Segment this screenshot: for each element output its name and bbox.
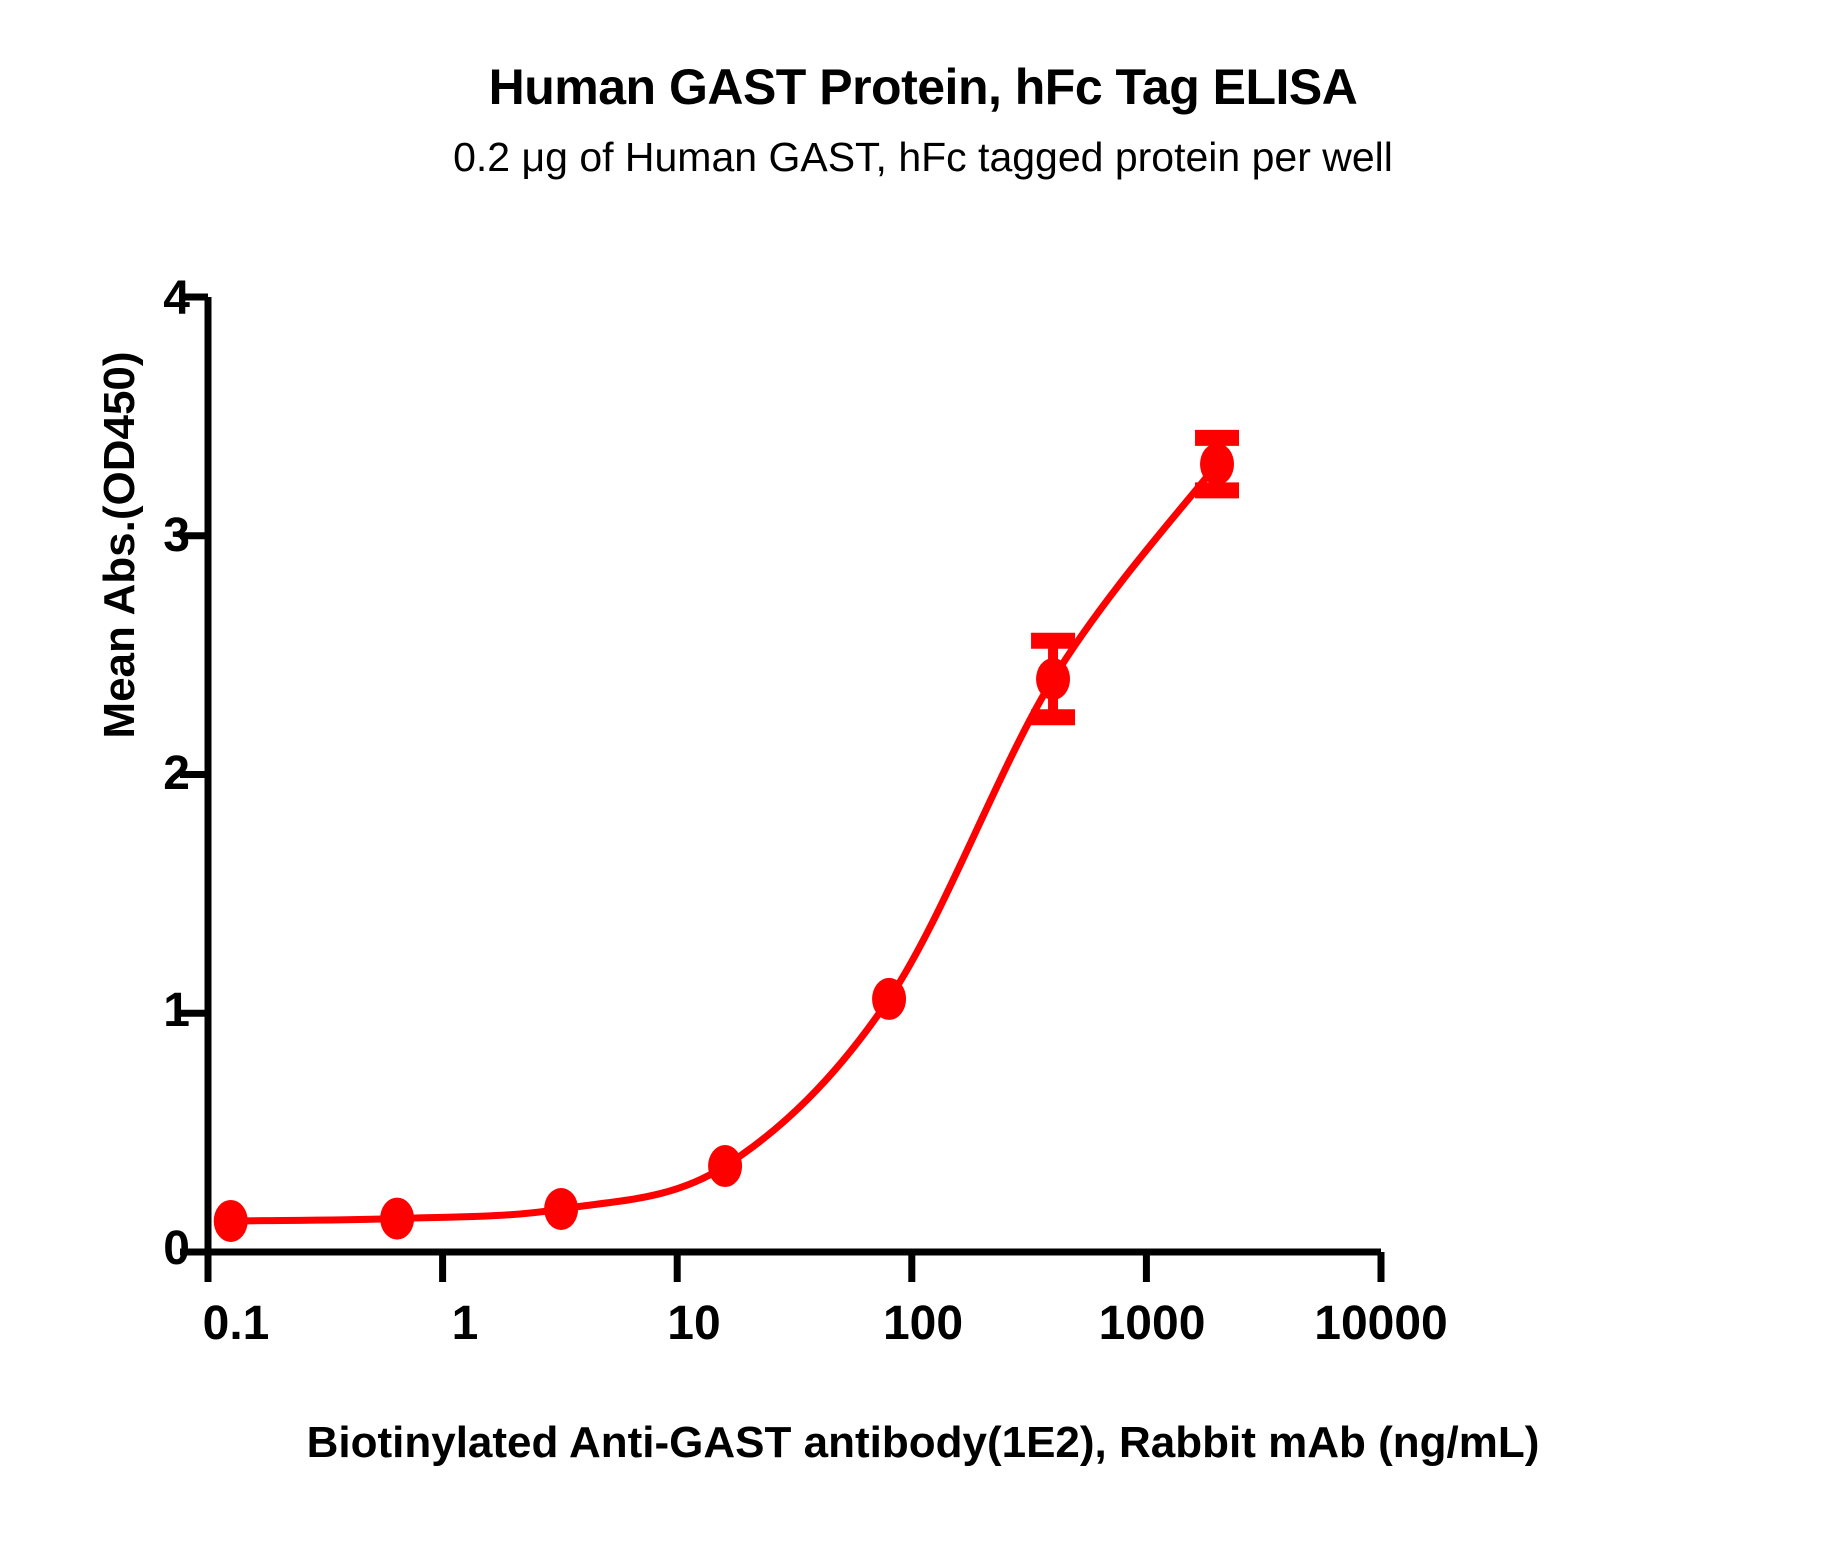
- data-points: [214, 443, 1234, 1242]
- series-curve: [231, 464, 1217, 1221]
- elisa-chart-figure: Human GAST Protein, hFc Tag ELISA 0.2 μg…: [0, 0, 1846, 1555]
- x-tick-marks: [208, 1252, 1381, 1282]
- plot-area: [0, 0, 1846, 1555]
- y-tick-marks: [180, 297, 208, 1252]
